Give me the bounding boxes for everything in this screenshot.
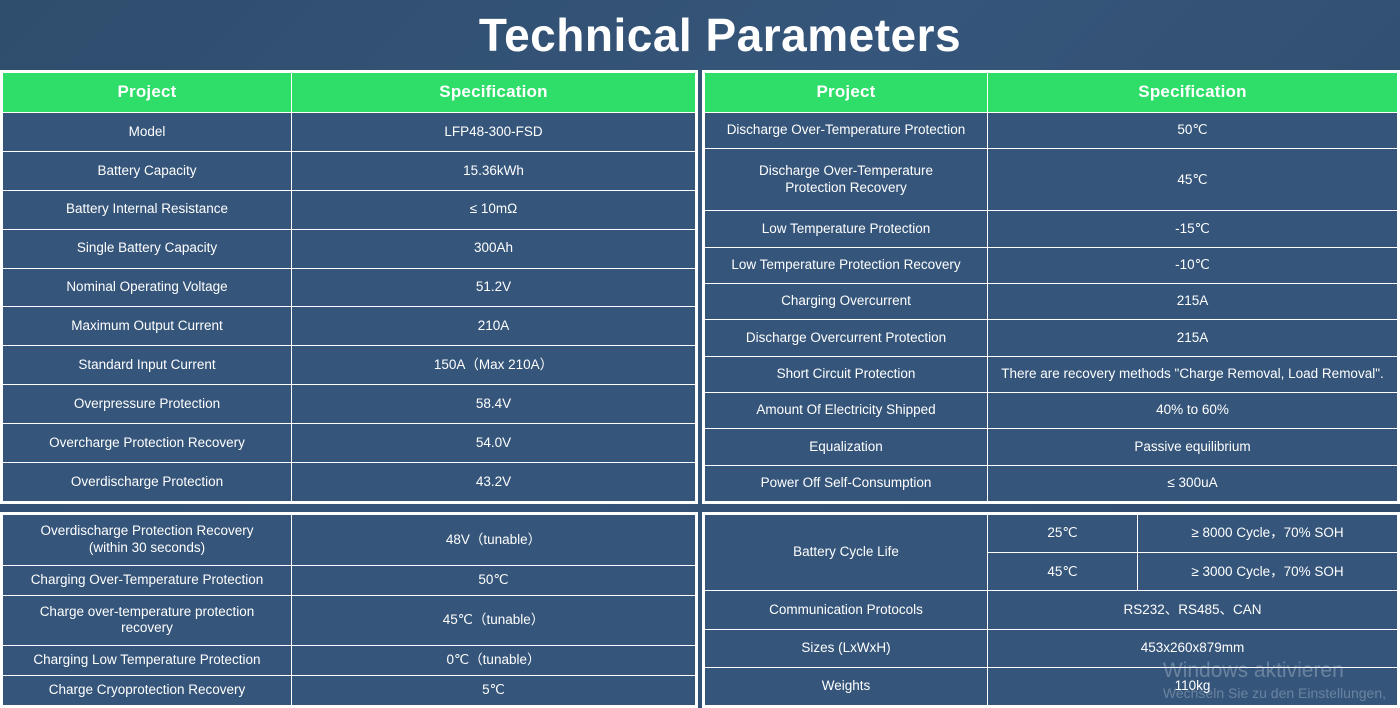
table-row: Charging Overcurrent 215A: [705, 283, 1398, 319]
row-label: Short Circuit Protection: [705, 356, 988, 392]
row-value: 215A: [988, 320, 1398, 356]
table-row: Charging Over-Temperature Protection 50℃: [3, 565, 696, 595]
table-row: Discharge Overcurrent Protection 215A: [705, 320, 1398, 356]
row-label: Sizes (LxWxH): [705, 629, 988, 667]
row-value: 51.2V: [292, 268, 696, 307]
row-value: 40% to 60%: [988, 392, 1398, 428]
table-row: Short Circuit Protection There are recov…: [705, 356, 1398, 392]
row-label: Battery Capacity: [3, 151, 292, 190]
row-label: Discharge Over-Temperature Protection Re…: [705, 149, 988, 211]
row-label-line1: Charge over-temperature protection: [40, 604, 255, 619]
row-label: Equalization: [705, 429, 988, 465]
row-value: 50℃: [988, 113, 1398, 149]
row-label: Charging Overcurrent: [705, 283, 988, 319]
row-label: Discharge Over-Temperature Protection: [705, 113, 988, 149]
cycle-life-value: ≥ 3000 Cycle，70% SOH: [1138, 553, 1398, 591]
row-label: Charging Over-Temperature Protection: [3, 565, 292, 595]
row-value: 300Ah: [292, 229, 696, 268]
table-row: Sizes (LxWxH) 453x260x879mm: [705, 629, 1398, 667]
row-value: 45℃（tunable）: [292, 595, 696, 646]
table-row: Low Temperature Protection -15℃: [705, 211, 1398, 247]
row-value: 150A（Max 210A）: [292, 346, 696, 385]
row-value: 0℃（tunable）: [292, 646, 696, 676]
right-column: Project Specification Discharge Over-Tem…: [702, 70, 1400, 708]
row-value: -10℃: [988, 247, 1398, 283]
row-label: Charge over-temperature protection recov…: [3, 595, 292, 646]
row-value: Passive equilibrium: [988, 429, 1398, 465]
row-label: Nominal Operating Voltage: [3, 268, 292, 307]
page-title: Technical Parameters: [479, 12, 961, 58]
row-value: 45℃: [988, 149, 1398, 211]
row-value: 215A: [988, 283, 1398, 319]
header-project: Project: [705, 73, 988, 113]
table-row: Maximum Output Current 210A: [3, 307, 696, 346]
table-row: Overdischarge Protection Recovery (withi…: [3, 515, 696, 566]
table-row: Discharge Over-Temperature Protection 50…: [705, 113, 1398, 149]
row-label: Weights: [705, 667, 988, 705]
table-row: Single Battery Capacity 300Ah: [3, 229, 696, 268]
row-label-line2: (within 30 seconds): [89, 540, 205, 555]
row-label: Overcharge Protection Recovery: [3, 424, 292, 463]
row-label: Power Off Self-Consumption: [705, 465, 988, 501]
row-value: 110kg: [988, 667, 1398, 705]
table-row: Charging Low Temperature Protection 0℃（t…: [3, 646, 696, 676]
row-label: Low Temperature Protection: [705, 211, 988, 247]
row-label: Overpressure Protection: [3, 385, 292, 424]
header-project: Project: [3, 73, 292, 113]
row-value: 5℃: [292, 676, 696, 706]
row-value: 15.36kWh: [292, 151, 696, 190]
row-value: 210A: [292, 307, 696, 346]
table-row: Standard Input Current 150A（Max 210A）: [3, 346, 696, 385]
row-label: Low Temperature Protection Recovery: [705, 247, 988, 283]
table-row: Discharge Over-Temperature Protection Re…: [705, 149, 1398, 211]
table-row: Charge Cryoprotection Recovery 5℃: [3, 676, 696, 706]
right-table-bottom: Battery Cycle Life 25℃ ≥ 8000 Cycle，70% …: [702, 512, 1400, 708]
table-row: Overdischarge Protection 43.2V: [3, 463, 696, 502]
row-value: RS232、RS485、CAN: [988, 591, 1398, 629]
table-row: Battery Internal Resistance ≤ 10mΩ: [3, 190, 696, 229]
cycle-life-temperature: 25℃: [988, 515, 1138, 553]
row-label: Overdischarge Protection: [3, 463, 292, 502]
table-header-row: Project Specification: [3, 73, 696, 113]
table-row: Amount Of Electricity Shipped 40% to 60%: [705, 392, 1398, 428]
row-label: Charge Cryoprotection Recovery: [3, 676, 292, 706]
table-header-row: Project Specification: [705, 73, 1398, 113]
table-gap: [702, 504, 1400, 512]
row-value: ≤ 10mΩ: [292, 190, 696, 229]
row-value: 43.2V: [292, 463, 696, 502]
cycle-life-value: ≥ 8000 Cycle，70% SOH: [1138, 515, 1398, 553]
row-value: There are recovery methods "Charge Remov…: [988, 356, 1398, 392]
table-row: Low Temperature Protection Recovery -10℃: [705, 247, 1398, 283]
table-row-cycle-life-25c: Battery Cycle Life 25℃ ≥ 8000 Cycle，70% …: [705, 515, 1398, 553]
row-value: LFP48-300-FSD: [292, 113, 696, 152]
row-value: 48V（tunable）: [292, 515, 696, 566]
cycle-life-temperature: 45℃: [988, 553, 1138, 591]
tables-container: Project Specification Model LFP48-300-FS…: [0, 70, 1400, 708]
page-title-bar: Technical Parameters: [0, 0, 1400, 70]
row-value: ≤ 300uA: [988, 465, 1398, 501]
row-label-line1: Overdischarge Protection Recovery: [40, 523, 253, 538]
row-label-battery-cycle-life: Battery Cycle Life: [705, 515, 988, 591]
row-value: 54.0V: [292, 424, 696, 463]
table-row: Overpressure Protection 58.4V: [3, 385, 696, 424]
row-label: Discharge Overcurrent Protection: [705, 320, 988, 356]
row-label: Overdischarge Protection Recovery (withi…: [3, 515, 292, 566]
table-row: Weights 110kg: [705, 667, 1398, 705]
row-label: Standard Input Current: [3, 346, 292, 385]
row-label: Single Battery Capacity: [3, 229, 292, 268]
row-value: 453x260x879mm: [988, 629, 1398, 667]
table-row: Charge over-temperature protection recov…: [3, 595, 696, 646]
table-row: Model LFP48-300-FSD: [3, 113, 696, 152]
row-label-line2: Protection Recovery: [785, 180, 907, 195]
table-row: Power Off Self-Consumption ≤ 300uA: [705, 465, 1398, 501]
row-label: Model: [3, 113, 292, 152]
row-label-line2: recovery: [121, 620, 173, 635]
row-value: 50℃: [292, 565, 696, 595]
row-label: Maximum Output Current: [3, 307, 292, 346]
table-row: Nominal Operating Voltage 51.2V: [3, 268, 696, 307]
header-specification: Specification: [988, 73, 1398, 113]
table-gap: [0, 504, 698, 512]
table-row: Battery Capacity 15.36kWh: [3, 151, 696, 190]
row-label: Battery Internal Resistance: [3, 190, 292, 229]
left-table-bottom: Overdischarge Protection Recovery (withi…: [0, 512, 698, 708]
row-label: Amount Of Electricity Shipped: [705, 392, 988, 428]
row-value: 58.4V: [292, 385, 696, 424]
table-row: Communication Protocols RS232、RS485、CAN: [705, 591, 1398, 629]
table-row: Overcharge Protection Recovery 54.0V: [3, 424, 696, 463]
left-table-top: Project Specification Model LFP48-300-FS…: [0, 70, 698, 504]
row-label-line1: Discharge Over-Temperature: [759, 163, 933, 178]
right-table-top: Project Specification Discharge Over-Tem…: [702, 70, 1400, 504]
table-row: Equalization Passive equilibrium: [705, 429, 1398, 465]
left-column: Project Specification Model LFP48-300-FS…: [0, 70, 698, 708]
header-specification: Specification: [292, 73, 696, 113]
row-label: Charging Low Temperature Protection: [3, 646, 292, 676]
row-label: Communication Protocols: [705, 591, 988, 629]
row-value: -15℃: [988, 211, 1398, 247]
